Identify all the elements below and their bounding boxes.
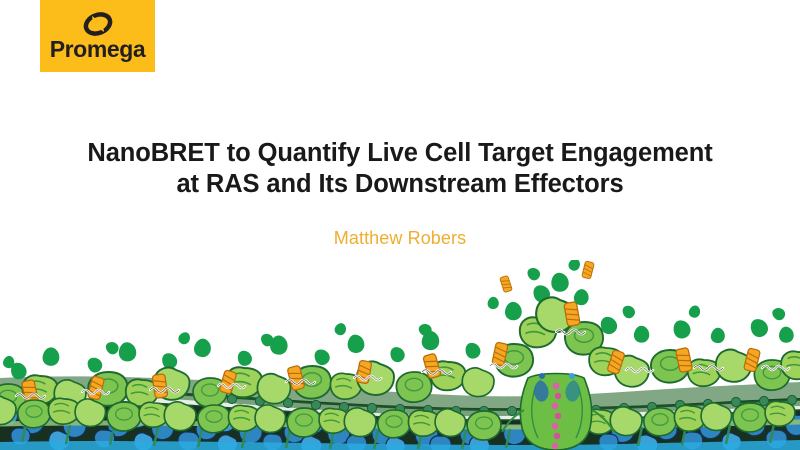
presenter-name: Matthew Robers: [0, 228, 800, 249]
helix-bundle: [500, 275, 513, 292]
presentation-slide: Promega NanoBRET to Quantify Live Cell T…: [0, 0, 800, 450]
extracellular-proteins: [0, 272, 800, 440]
cell-membrane-illustration: [0, 260, 800, 450]
helix-bundle: [582, 261, 595, 279]
promega-wordmark: Promega: [50, 38, 146, 61]
page-title: NanoBRET to Quantify Live Cell Target En…: [0, 138, 800, 200]
promega-logo: Promega: [40, 0, 155, 72]
helix-bundle: [152, 374, 168, 399]
promega-ring-mark: [82, 11, 114, 37]
